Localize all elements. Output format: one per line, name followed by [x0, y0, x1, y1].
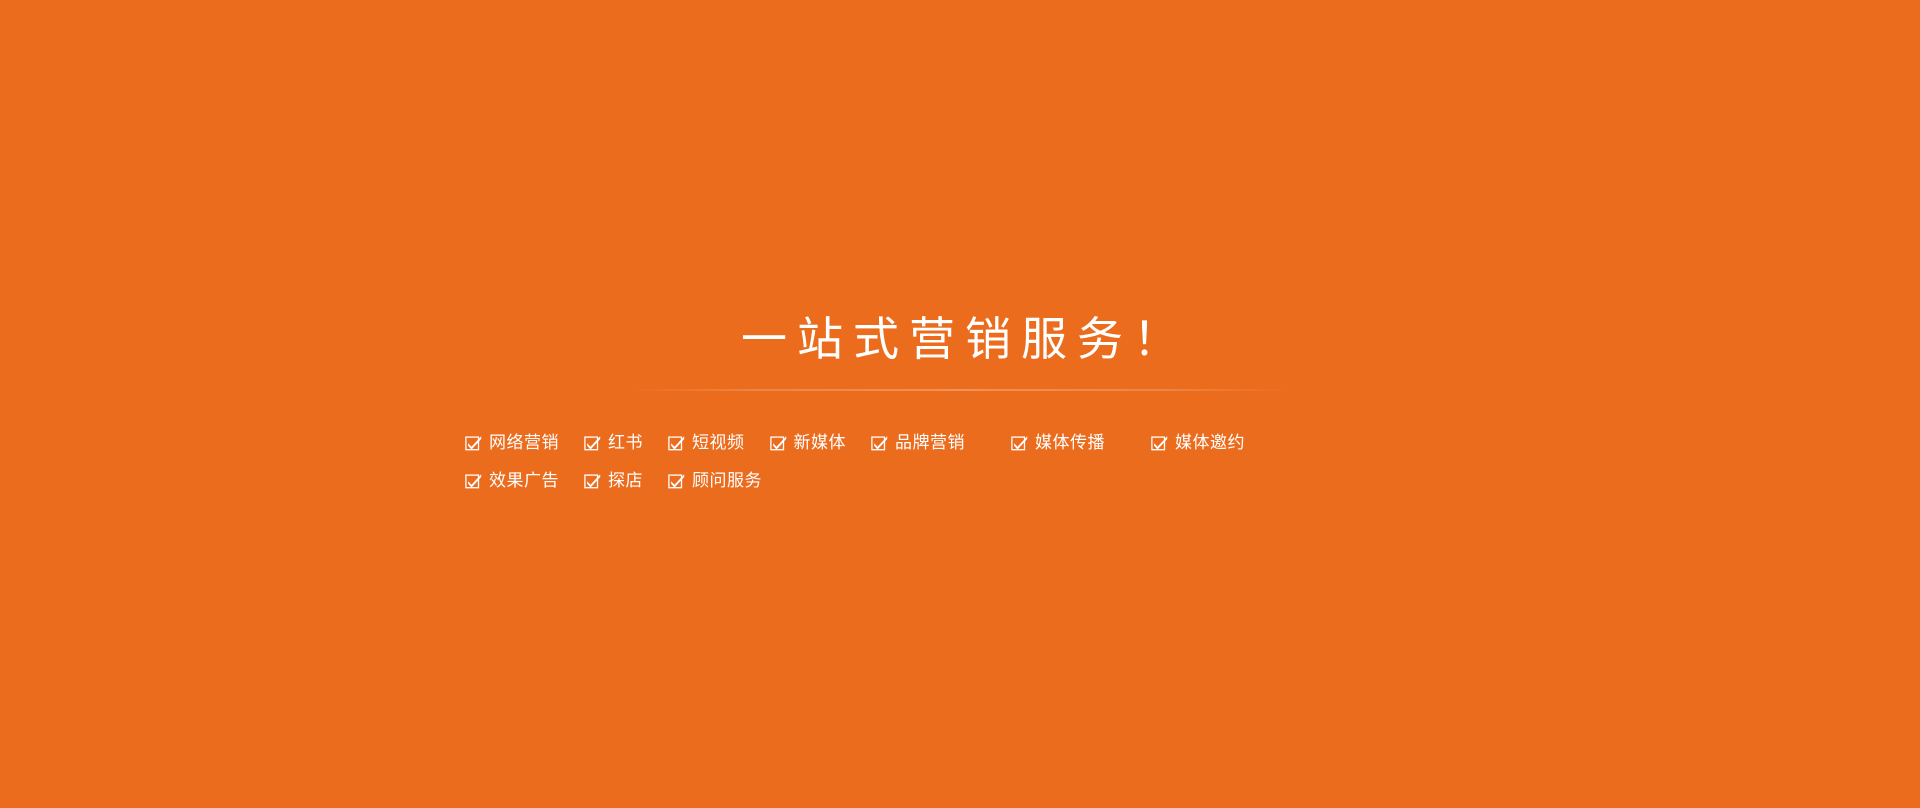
service-tag-row: 效果广告探店顾问服务	[460, 462, 1460, 500]
service-tag[interactable]: 探店	[584, 469, 643, 493]
checked-checkbox-icon	[465, 473, 482, 490]
checked-checkbox-icon	[1151, 435, 1168, 452]
service-tag[interactable]: 短视频	[668, 431, 745, 455]
checked-checkbox-icon	[584, 435, 601, 452]
service-tag-label: 网络营销	[489, 431, 559, 455]
service-tag[interactable]: 媒体邀约	[1151, 431, 1245, 455]
service-tag-label: 新媒体	[794, 431, 847, 455]
service-tag[interactable]: 品牌营销	[871, 431, 965, 455]
service-tag[interactable]: 效果广告	[465, 469, 559, 493]
marketing-banner: 一站式营销服务！ 网络营销红书短视频新媒体品牌营销媒体传播媒体邀约效果广告探店顾…	[0, 0, 1920, 808]
service-tag[interactable]: 顾问服务	[668, 469, 762, 493]
service-tag-row: 网络营销红书短视频新媒体品牌营销媒体传播媒体邀约	[460, 424, 1460, 462]
service-tag-label: 媒体邀约	[1175, 431, 1245, 455]
service-tag-label: 效果广告	[489, 469, 559, 493]
checked-checkbox-icon	[584, 473, 601, 490]
checked-checkbox-icon	[668, 435, 685, 452]
service-tag[interactable]: 媒体传播	[1011, 431, 1105, 455]
checked-checkbox-icon	[770, 435, 787, 452]
service-tag[interactable]: 网络营销	[465, 431, 559, 455]
service-tag-label: 红书	[608, 431, 643, 455]
checked-checkbox-icon	[1011, 435, 1028, 452]
service-tag-label: 品牌营销	[895, 431, 965, 455]
service-tag[interactable]: 新媒体	[770, 431, 847, 455]
service-tag-label: 短视频	[692, 431, 745, 455]
service-tag-label: 媒体传播	[1035, 431, 1105, 455]
page-title: 一站式营销服务！	[0, 310, 1920, 368]
gradient-divider	[630, 389, 1290, 391]
service-tag-label: 探店	[608, 469, 643, 493]
service-tag-label: 顾问服务	[692, 469, 762, 493]
service-tag[interactable]: 红书	[584, 431, 643, 455]
checked-checkbox-icon	[668, 473, 685, 490]
checked-checkbox-icon	[871, 435, 888, 452]
service-tag-list: 网络营销红书短视频新媒体品牌营销媒体传播媒体邀约效果广告探店顾问服务	[460, 424, 1460, 500]
title-block: 一站式营销服务！	[0, 310, 1920, 368]
checked-checkbox-icon	[465, 435, 482, 452]
